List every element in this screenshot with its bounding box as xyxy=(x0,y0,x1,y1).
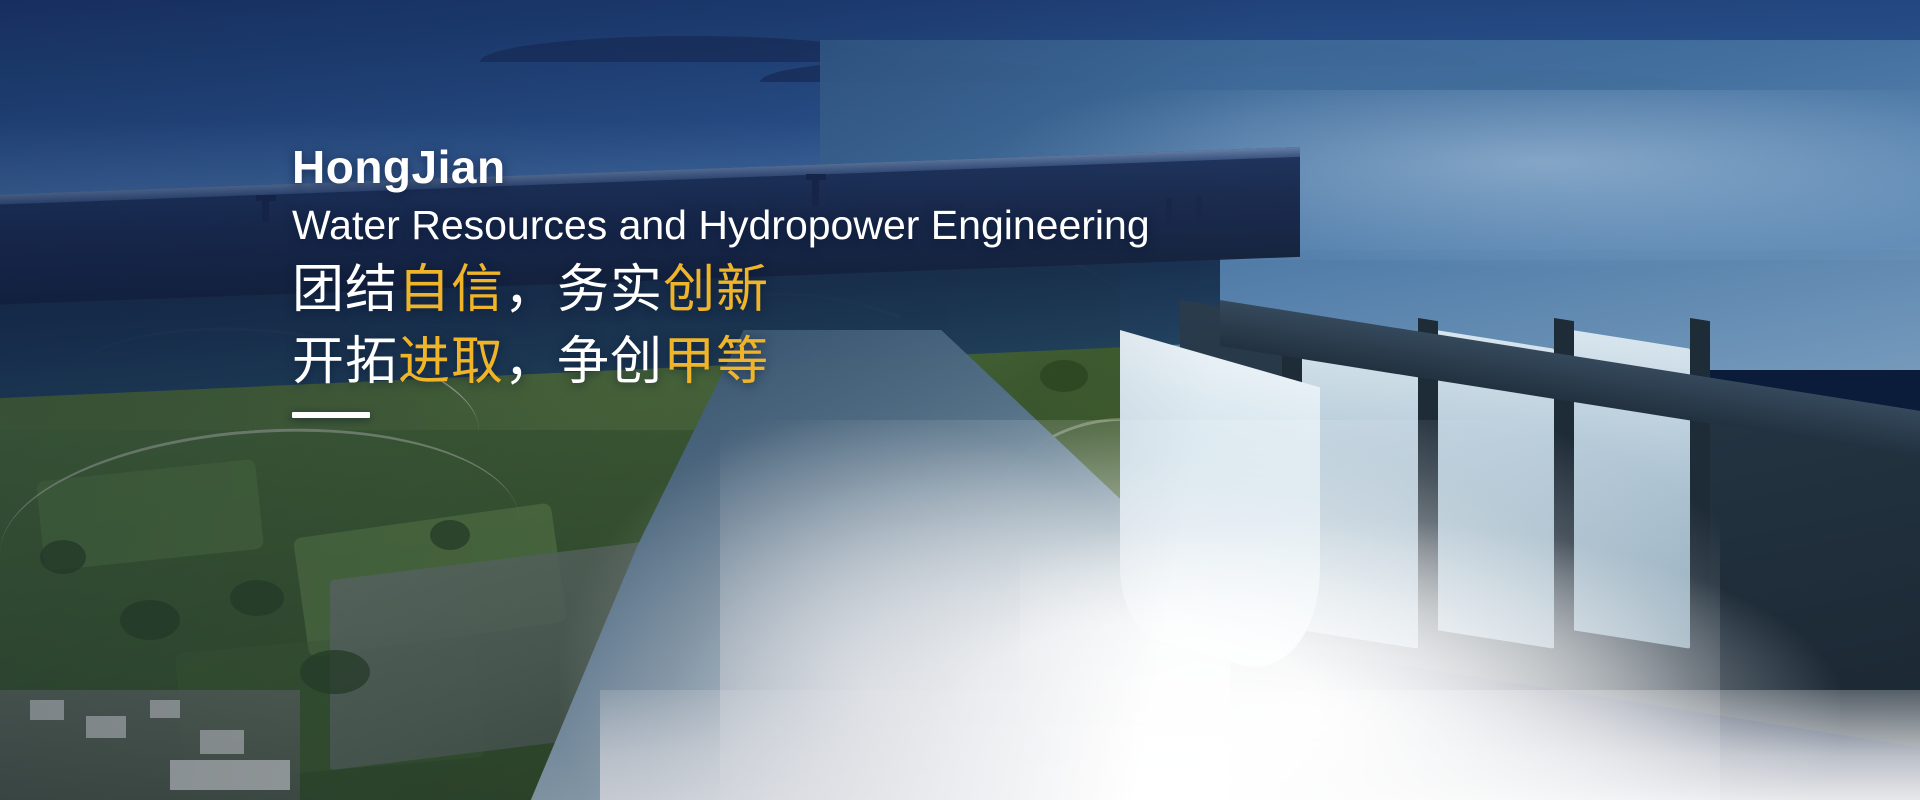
slogan1-segment-white-a: 团结 xyxy=(292,261,398,319)
hero-copy-block: HongJian Water Resources and Hydropower … xyxy=(292,142,1292,418)
slogan1-segment-gold-b: 创新 xyxy=(663,261,769,319)
slogan2-segment-gold-a: 进取 xyxy=(398,333,504,391)
slogan1-segment-gold-a: 自信 xyxy=(398,261,504,319)
tagline-english: Water Resources and Hydropower Engineeri… xyxy=(292,201,1292,249)
slogan2-segment-white-b: 争创 xyxy=(557,333,663,391)
slogan2-segment-gold-b: 甲等 xyxy=(663,333,769,391)
slogan-line-1: 团结自信，务实创新 xyxy=(292,255,1292,327)
slogan-line-2: 开拓进取，争创甲等 xyxy=(292,327,1292,399)
hero-banner: HongJian Water Resources and Hydropower … xyxy=(0,0,1920,800)
slogan1-comma: ， xyxy=(504,261,557,319)
brand-name: HongJian xyxy=(292,142,1292,193)
slogan2-comma: ， xyxy=(504,333,557,391)
accent-underline-rule xyxy=(292,412,370,418)
slogan1-segment-white-b: 务实 xyxy=(557,261,663,319)
slogan2-segment-white-a: 开拓 xyxy=(292,333,398,391)
